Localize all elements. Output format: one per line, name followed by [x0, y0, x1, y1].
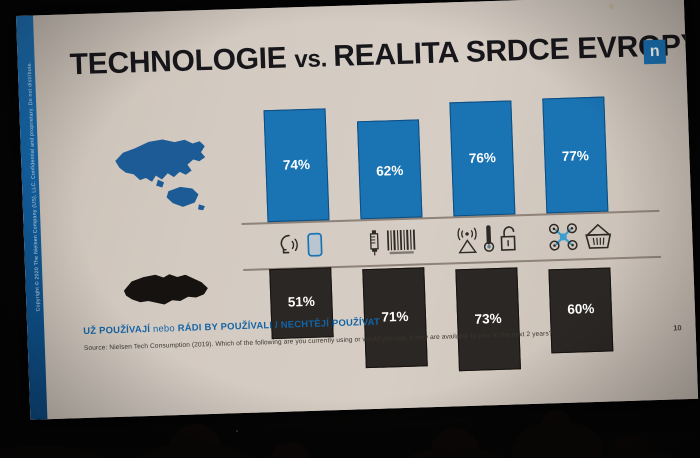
projected-slide-surface: Copyright © 2020 The Nielsen Company (US…	[16, 0, 698, 420]
title-part-main: TECHNOLOGIE	[69, 41, 295, 81]
copyright-notice: Copyright © 2020 The Nielsen Company (US…	[25, 12, 44, 362]
bar-value-dark-4: 60%	[551, 300, 612, 317]
slide-page-number: 10	[673, 323, 682, 332]
audience-shoulders	[402, 448, 510, 458]
czech-republic-map-icon	[113, 266, 219, 317]
bar-value-dark-3: 73%	[458, 310, 519, 327]
dust-speck	[236, 430, 238, 432]
presentation-photo: Copyright © 2020 The Nielsen Company (US…	[0, 0, 700, 458]
ceiling-light-speck	[609, 4, 614, 9]
bar-dark-3: 73%	[455, 267, 521, 371]
page-title: TECHNOLOGIE vs. REALITA SRDCE EVROPY	[69, 31, 630, 83]
audience-head	[168, 424, 222, 458]
legend-segment-used: UŽ POUŽÍVAJÍ	[83, 323, 153, 336]
bar-dark-4: 60%	[548, 267, 613, 353]
audience-head	[430, 428, 480, 458]
audience-shoulders	[0, 446, 100, 458]
presenter-head	[540, 410, 572, 440]
slide-left-spine: Copyright © 2020 The Nielsen Company (US…	[16, 15, 47, 419]
bar-value-dark-1: 51%	[271, 293, 332, 310]
audience-head	[270, 442, 310, 458]
slide: Copyright © 2020 The Nielsen Company (US…	[16, 0, 698, 420]
title-part-vs: vs.	[294, 45, 334, 73]
audience-shoulders	[138, 444, 254, 458]
legend-segment-or: nebo	[153, 322, 178, 334]
audience-shoulders	[588, 450, 684, 458]
global-world-map-icon	[100, 128, 221, 218]
presenter-shoulders	[516, 422, 602, 458]
audience-head	[612, 434, 652, 458]
audience-head	[512, 437, 542, 458]
nielsen-logo: n	[643, 40, 666, 65]
